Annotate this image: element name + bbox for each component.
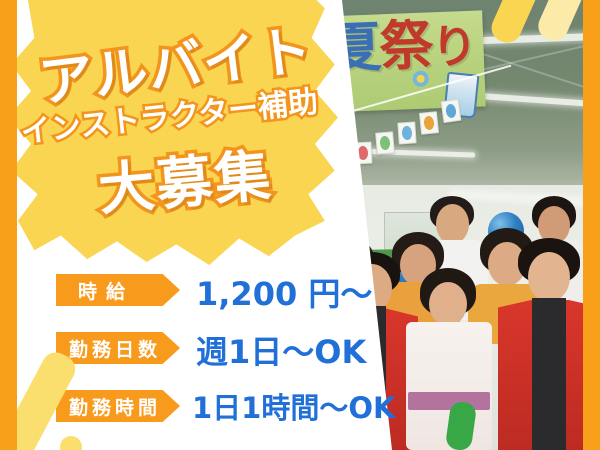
hanging-card [441,99,462,123]
hanging-card [397,121,416,144]
banner-char-matsuri: 祭 [378,13,432,78]
hanging-card [419,111,439,135]
detail-label-tag: 勤務日数 [56,332,180,364]
headline-recruit: 大募集 [95,131,275,227]
frame-border-left [0,0,17,450]
detail-value: 週1日〜OK [196,327,366,373]
detail-value: 1,200 円〜 [196,269,372,315]
detail-label: 勤務日数 [56,335,161,362]
detail-value: 1日1時間〜OK [192,385,395,427]
banner-char-ri: り [430,19,476,75]
detail-label: 時給 [56,277,134,304]
job-ad-poster: 夏祭り [0,0,600,450]
detail-row-hourly-wage: 時給 1,200 円〜 [0,274,400,314]
detail-label-tag: 勤務時間 [56,390,180,422]
hanging-card [375,131,395,154]
detail-label-tag: 時給 [56,274,180,306]
detail-label: 勤務時間 [56,393,161,420]
frame-border-right [583,0,600,450]
